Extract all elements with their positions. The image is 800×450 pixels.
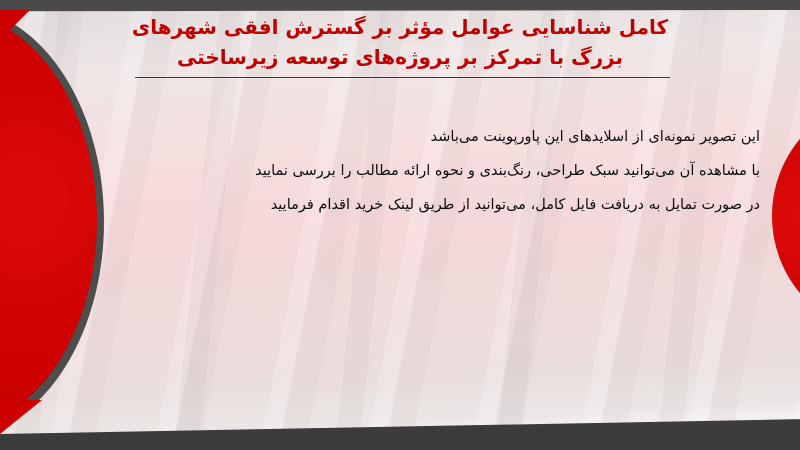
body-line-2: با مشاهده آن می‌توانید سبک طراحی، رنگ‌بن… xyxy=(120,154,760,188)
slide-title-line-1: کامل شناسایی عوامل مؤثر بر گسترش افقی شه… xyxy=(100,12,700,42)
slide-title-line-2: بزرگ با تمرکز بر پروژه‌های توسعه زیرساخت… xyxy=(100,42,700,72)
body-line-3: در صورت تمایل به دریافت فایل کامل، می‌تو… xyxy=(120,188,760,222)
body-line-1: این تصویر نمونه‌ای از اسلایدهای این پاور… xyxy=(120,120,760,154)
background-stripe-texture-secondary xyxy=(0,10,800,434)
background-stripe-texture xyxy=(0,10,800,434)
slide-content-panel xyxy=(0,10,800,434)
title-underline-rule xyxy=(135,77,670,78)
slide-body-text: این تصویر نمونه‌ای از اسلایدهای این پاور… xyxy=(120,120,760,222)
slide-title: کامل شناسایی عوامل مؤثر بر گسترش افقی شه… xyxy=(100,12,700,72)
presentation-slide: کامل شناسایی عوامل مؤثر بر گسترش افقی شه… xyxy=(0,0,800,450)
